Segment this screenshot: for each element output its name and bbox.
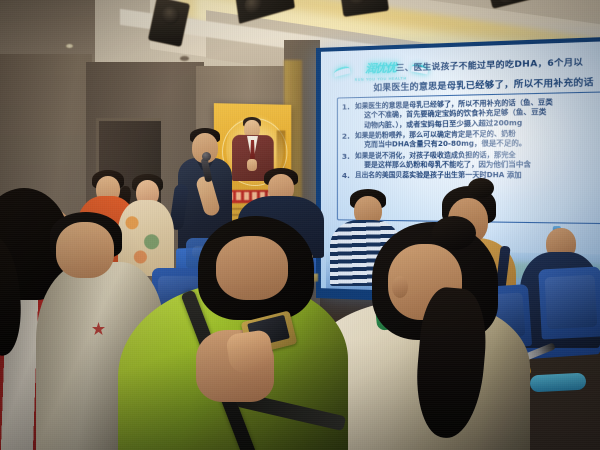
audience-hair-bun <box>468 178 494 198</box>
microphone-head-icon <box>202 152 211 161</box>
slide-title: 三、医生说孩子不能过早的吃DHA，6个月以 <box>396 54 600 74</box>
ceiling-spot-light <box>66 44 73 48</box>
slide-bullet: 4. 且出名的美国贝蕊实验是孩子出生第一天时DHA 添加 <box>342 171 600 181</box>
slide-bullet: 1. 如果医生的意思是母乳已经够了，所以不用补充的话（鱼、豆类 这个不准确，首先… <box>342 97 600 131</box>
audience-head <box>216 236 288 300</box>
bullet-number: 3. <box>342 151 350 160</box>
audience-hair-bun <box>432 216 476 250</box>
blue-rolled-item <box>530 373 587 393</box>
audience-ear <box>392 276 408 298</box>
seminar-room-photo: 润优优 RUN YOU YOU HEALTH 三、医生说孩子不能过早的吃DHA，… <box>0 0 600 450</box>
bullet-number: 1. <box>342 102 350 111</box>
slide-bullet: 2. 如果是奶粉喂养，那么可以确定肯定是不足的、奶粉 克而当中DHA含量只有20… <box>342 128 600 150</box>
bullet-number: 4. <box>342 171 350 180</box>
bullet-line: 要是这样那么奶粉和母乳不能吃了，因为他们当中含 <box>364 159 600 170</box>
banner-portrait-hand <box>247 159 257 171</box>
banquet-chair <box>538 266 600 339</box>
bullet-number: 2. <box>342 132 350 141</box>
bullet-line: 克而当中DHA含量只有20-80mg，很是不足的。 <box>364 138 600 150</box>
slide-bullet: 3. 如果是说不消化，对孩子吸收造成负担的话，那完全 要是这样那么奶粉和母乳不能… <box>342 150 600 170</box>
ceiling-downlight <box>180 56 189 61</box>
audience-head <box>56 222 114 278</box>
banner-side-text <box>277 130 286 170</box>
